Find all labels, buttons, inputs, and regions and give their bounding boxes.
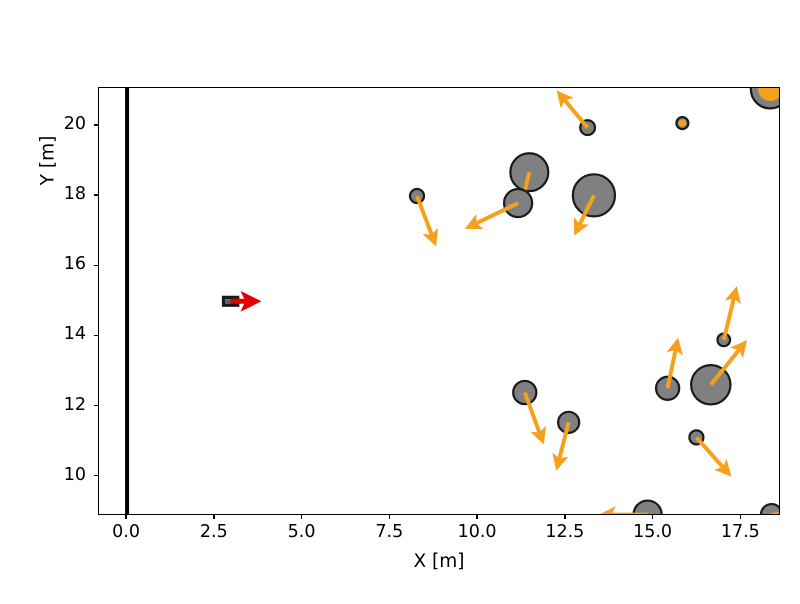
y-tick-label: 14 bbox=[0, 326, 86, 344]
x-tick-mark bbox=[740, 515, 741, 519]
y-tick-label: 10 bbox=[0, 467, 86, 485]
pedestrian bbox=[410, 189, 434, 240]
velocity-arrow-head-on bbox=[679, 119, 686, 126]
pedestrian bbox=[513, 381, 541, 438]
x-tick-mark bbox=[301, 515, 302, 519]
plot-axes bbox=[98, 87, 780, 515]
velocity-arrow bbox=[724, 293, 735, 340]
x-tick-label: 15.0 bbox=[618, 522, 688, 543]
pedestrian bbox=[676, 117, 688, 129]
robot-group bbox=[224, 297, 253, 305]
velocity-arrow bbox=[696, 437, 726, 471]
pedestrian bbox=[471, 189, 532, 226]
pedestrian bbox=[689, 430, 726, 471]
pedestrian-body bbox=[510, 153, 548, 191]
x-tick-label: 10.0 bbox=[442, 522, 512, 543]
y-tick-mark bbox=[94, 265, 98, 266]
x-tick-mark bbox=[476, 515, 477, 519]
x-tick-label: 2.5 bbox=[179, 522, 249, 543]
robot-body-detail bbox=[226, 300, 231, 303]
pedestrian-group bbox=[410, 88, 779, 514]
x-tick-mark bbox=[389, 515, 390, 519]
pedestrian bbox=[717, 293, 735, 346]
y-tick-mark bbox=[94, 194, 98, 195]
pedestrian bbox=[691, 346, 742, 405]
y-tick-label: 12 bbox=[0, 397, 86, 415]
pedestrian bbox=[606, 501, 662, 514]
x-axis-label: X [m] bbox=[98, 551, 780, 572]
pedestrian bbox=[573, 174, 615, 229]
y-tick-mark bbox=[94, 124, 98, 125]
x-tick-label: 5.0 bbox=[267, 522, 337, 543]
y-tick-mark bbox=[94, 475, 98, 476]
velocity-arrow bbox=[772, 513, 779, 514]
x-tick-label: 7.5 bbox=[354, 522, 424, 543]
x-tick-label: 12.5 bbox=[530, 522, 600, 543]
figure-canvas: 0.02.55.07.510.012.515.017.5 10121416182… bbox=[0, 0, 800, 604]
plot-data-area bbox=[99, 88, 779, 514]
pedestrian bbox=[561, 96, 595, 135]
x-tick-mark bbox=[125, 515, 126, 519]
pedestrian-body bbox=[634, 501, 662, 514]
y-axis-label: Y [m] bbox=[38, 61, 59, 261]
x-tick-mark bbox=[564, 515, 565, 519]
x-tick-mark bbox=[652, 515, 653, 519]
pedestrian bbox=[761, 504, 779, 514]
y-tick-mark bbox=[94, 405, 98, 406]
x-tick-label: 0.0 bbox=[91, 522, 161, 543]
pedestrian bbox=[558, 412, 579, 464]
y-tick-mark bbox=[94, 335, 98, 336]
x-tick-mark bbox=[213, 515, 214, 519]
pedestrian bbox=[656, 345, 679, 400]
velocity-arrow bbox=[561, 96, 587, 128]
pedestrian bbox=[751, 88, 779, 108]
velocity-arrow bbox=[417, 196, 434, 240]
scene-svg bbox=[99, 88, 779, 514]
pedestrian-body bbox=[513, 381, 536, 404]
x-tick-label: 17.5 bbox=[705, 522, 775, 543]
